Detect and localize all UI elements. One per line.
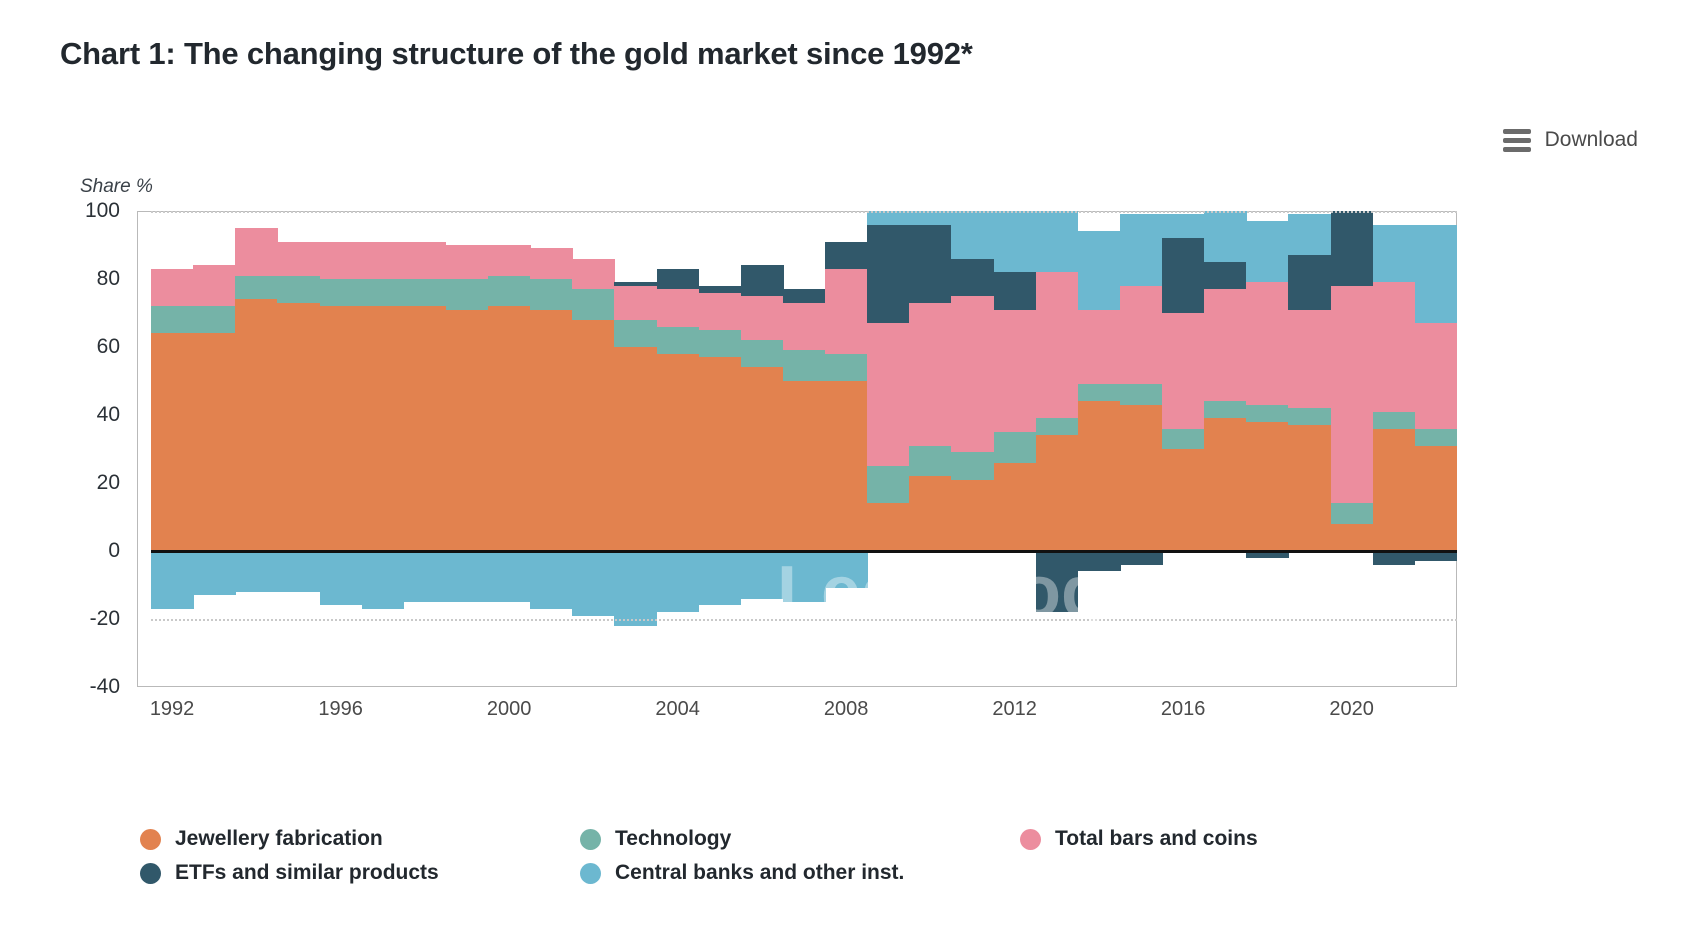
legend-label: Technology <box>615 827 731 851</box>
bar-segment <box>951 259 994 296</box>
bar-segment <box>825 242 868 269</box>
x-tick-label: 1992 <box>150 698 195 721</box>
bar-segment <box>1331 286 1374 504</box>
legend-item-jewellery[interactable]: Jewellery fabrication <box>140 822 570 856</box>
bar-segment <box>699 551 742 605</box>
bar-column[interactable] <box>909 211 952 687</box>
bar-segment <box>1204 289 1247 401</box>
x-axis-labels: 19921996200020042008201220162020 <box>137 698 1457 738</box>
bar-segment <box>1036 211 1079 272</box>
legend-item-bars-and-coins[interactable]: Total bars and coins <box>1020 822 1450 856</box>
bar-segment <box>783 350 826 381</box>
bar-segment <box>151 269 194 306</box>
bar-segment <box>151 551 194 609</box>
bar-segment <box>446 245 489 279</box>
legend-swatch-icon <box>140 863 161 884</box>
bar-column[interactable] <box>404 211 447 687</box>
bar-segment <box>151 333 194 551</box>
x-tick-label: 2004 <box>655 698 700 721</box>
bar-segment <box>1162 429 1205 449</box>
legend-label: ETFs and similar products <box>175 861 439 885</box>
bar-segment <box>193 333 236 551</box>
bar-segment <box>783 289 826 303</box>
bar-segment <box>1415 323 1457 428</box>
bar-segment <box>277 276 320 303</box>
bar-segment <box>1078 310 1121 385</box>
bar-segment <box>151 306 194 333</box>
bar-segment <box>1078 401 1121 551</box>
bar-segment <box>1036 551 1079 612</box>
x-tick-label: 2000 <box>487 698 532 721</box>
bar-segment <box>446 551 489 602</box>
bar-segment <box>277 303 320 551</box>
gridline <box>151 211 1457 213</box>
bar-segment <box>1120 551 1163 565</box>
bar-column[interactable] <box>193 211 236 687</box>
y-tick-label: 60 <box>10 335 120 359</box>
bar-column[interactable] <box>783 211 826 687</box>
bar-segment <box>446 279 489 310</box>
legend-label: Jewellery fabrication <box>175 827 383 851</box>
bar-segment <box>193 551 236 595</box>
bar-segment <box>446 310 489 551</box>
bar-column[interactable] <box>994 211 1037 687</box>
plot-inner <box>151 211 1457 687</box>
y-tick-label: 40 <box>10 403 120 427</box>
bar-column[interactable] <box>1288 211 1331 687</box>
y-axis-labels: 100806040200-20-40 <box>0 211 120 687</box>
bar-segment <box>699 293 742 330</box>
bar-segment <box>404 306 447 551</box>
bar-segment <box>530 551 573 609</box>
bar-segment <box>362 551 405 609</box>
bar-segment <box>572 289 615 320</box>
bar-column[interactable] <box>320 211 363 687</box>
bar-segment <box>614 286 657 320</box>
bar-column[interactable] <box>741 211 784 687</box>
bar-segment <box>530 248 573 279</box>
bar-segment <box>1120 384 1163 404</box>
bar-segment <box>277 242 320 276</box>
y-axis-caption: Share % <box>80 176 153 198</box>
bar-segment <box>825 551 868 588</box>
bar-segment <box>1162 214 1205 238</box>
bar-segment <box>530 310 573 551</box>
bar-segment <box>320 279 363 306</box>
bar-column[interactable] <box>825 211 868 687</box>
bar-segment <box>657 551 700 612</box>
bar-column[interactable] <box>1078 211 1121 687</box>
bar-column[interactable] <box>1162 211 1205 687</box>
bar-column[interactable] <box>1204 211 1247 687</box>
bar-column[interactable] <box>1415 211 1457 687</box>
zero-baseline <box>151 550 1457 553</box>
bar-segment <box>994 463 1037 551</box>
bar-segment <box>1036 418 1079 435</box>
bar-segment <box>741 265 784 296</box>
bar-segment <box>994 272 1037 309</box>
bar-segment <box>909 303 952 446</box>
bar-segment <box>1246 282 1289 404</box>
bar-segment <box>1120 405 1163 551</box>
y-tick-label: -40 <box>10 675 120 699</box>
bar-segment <box>741 296 784 340</box>
bar-segment <box>1078 231 1121 309</box>
gridline <box>151 619 1457 621</box>
bar-column[interactable] <box>530 211 573 687</box>
legend-swatch-icon <box>580 829 601 850</box>
y-tick-label: 80 <box>10 267 120 291</box>
bar-segment <box>657 269 700 289</box>
x-tick-label: 2016 <box>1161 698 1206 721</box>
bar-segment <box>572 259 615 290</box>
legend-item-etfs[interactable]: ETFs and similar products <box>140 856 570 890</box>
bar-column[interactable] <box>867 211 910 687</box>
bar-column[interactable] <box>614 211 657 687</box>
bar-segment <box>1373 551 1416 565</box>
bar-segment <box>1246 405 1289 422</box>
y-tick-label: 20 <box>10 471 120 495</box>
page-title: Chart 1: The changing structure of the g… <box>60 36 973 72</box>
bar-segment <box>994 211 1037 272</box>
bar-segment <box>530 279 573 310</box>
bar-column[interactable] <box>362 211 405 687</box>
bar-segment <box>783 551 826 602</box>
bar-column[interactable] <box>446 211 489 687</box>
bar-segment <box>909 225 952 303</box>
bar-segment <box>320 242 363 279</box>
y-tick-label: -20 <box>10 607 120 631</box>
bar-segment <box>867 323 910 466</box>
bar-segment <box>362 306 405 551</box>
x-tick-label: 2008 <box>824 698 869 721</box>
bar-segment <box>572 320 615 551</box>
bar-segment <box>825 354 868 381</box>
bar-column[interactable] <box>277 211 320 687</box>
bar-segment <box>1373 225 1416 283</box>
bar-segment <box>193 265 236 306</box>
bar-column[interactable] <box>1246 211 1289 687</box>
bar-segment <box>488 551 531 602</box>
legend-label: Central banks and other inst. <box>615 861 904 885</box>
bar-segment <box>1204 401 1247 418</box>
hamburger-menu-icon <box>1503 129 1531 152</box>
x-tick-label: 2012 <box>992 698 1037 721</box>
y-tick-label: 0 <box>10 539 120 563</box>
bar-column[interactable] <box>488 211 531 687</box>
legend-swatch-icon <box>580 863 601 884</box>
chart-plot-area <box>137 211 1457 687</box>
stacked-bars <box>151 211 1457 687</box>
legend-label: Total bars and coins <box>1055 827 1258 851</box>
bar-segment <box>741 340 784 367</box>
bar-segment <box>1288 255 1331 309</box>
bar-segment <box>277 551 320 592</box>
bar-segment <box>614 347 657 551</box>
bar-segment <box>1204 262 1247 289</box>
bar-segment <box>909 476 952 551</box>
bar-segment <box>1288 214 1331 255</box>
bar-segment <box>1373 282 1416 411</box>
bar-segment <box>867 211 910 225</box>
bar-segment <box>867 225 910 324</box>
bar-segment <box>994 310 1037 432</box>
bar-segment <box>1162 238 1205 313</box>
legend-swatch-icon <box>140 829 161 850</box>
bar-segment <box>783 381 826 551</box>
bar-segment <box>867 466 910 503</box>
bar-segment <box>741 551 784 599</box>
bar-segment <box>783 303 826 351</box>
bar-segment <box>1078 551 1121 571</box>
bar-segment <box>235 299 278 551</box>
legend-item-technology[interactable]: Technology <box>580 822 1010 856</box>
bar-segment <box>1246 422 1289 551</box>
bar-segment <box>488 276 531 307</box>
bar-column[interactable] <box>699 211 742 687</box>
bar-segment <box>235 551 278 592</box>
bar-segment <box>741 367 784 551</box>
bar-segment <box>1288 310 1331 409</box>
bar-segment <box>320 551 363 605</box>
bar-segment <box>1036 435 1079 551</box>
bar-segment <box>951 480 994 551</box>
chart-legend: Jewellery fabricationTechnologyTotal bar… <box>140 822 1480 890</box>
bar-segment <box>1288 408 1331 425</box>
bar-column[interactable] <box>1036 211 1079 687</box>
bar-segment <box>1415 225 1457 324</box>
bar-segment <box>1331 211 1374 286</box>
bar-segment <box>1288 425 1331 551</box>
bar-column[interactable] <box>1331 211 1374 687</box>
bar-segment <box>404 279 447 306</box>
y-tick-label: 100 <box>10 199 120 223</box>
bar-segment <box>404 551 447 602</box>
bar-column[interactable] <box>1373 211 1416 687</box>
bar-segment <box>1162 313 1205 429</box>
bar-segment <box>1204 211 1247 262</box>
bar-segment <box>1373 429 1416 551</box>
bar-segment <box>235 276 278 300</box>
bar-column[interactable] <box>235 211 278 687</box>
bar-segment <box>867 503 910 551</box>
bar-segment <box>1162 449 1205 551</box>
bar-segment <box>1246 221 1289 282</box>
download-label: Download <box>1545 128 1638 152</box>
bar-column[interactable] <box>657 211 700 687</box>
bar-segment <box>614 282 657 285</box>
bar-segment <box>614 320 657 347</box>
bar-segment <box>909 211 952 225</box>
bar-column[interactable] <box>951 211 994 687</box>
bar-column[interactable] <box>151 211 194 687</box>
bar-segment <box>1331 524 1374 551</box>
bar-segment <box>909 446 952 477</box>
bar-segment <box>362 279 405 306</box>
bar-segment <box>1373 412 1416 429</box>
bar-segment <box>1120 214 1163 285</box>
bar-segment <box>614 551 657 626</box>
bar-segment <box>951 296 994 452</box>
bar-segment <box>193 306 236 333</box>
bar-segment <box>699 330 742 357</box>
bar-segment <box>404 242 447 279</box>
bar-segment <box>320 306 363 551</box>
bar-segment <box>488 245 531 276</box>
bar-segment <box>1204 418 1247 551</box>
bar-segment <box>994 432 1037 463</box>
legend-swatch-icon <box>1020 829 1041 850</box>
bar-segment <box>235 228 278 276</box>
legend-item-central-banks[interactable]: Central banks and other inst. <box>580 856 1010 890</box>
bar-column[interactable] <box>572 211 615 687</box>
x-tick-label: 1996 <box>318 698 363 721</box>
bar-segment <box>699 357 742 551</box>
bar-segment <box>362 242 405 279</box>
bar-segment <box>825 269 868 354</box>
bar-segment <box>825 381 868 551</box>
bar-segment <box>699 286 742 293</box>
bar-column[interactable] <box>1120 211 1163 687</box>
bar-segment <box>1415 446 1457 551</box>
bar-segment <box>657 289 700 326</box>
download-button[interactable]: Download <box>1503 128 1638 152</box>
bar-segment <box>951 211 994 259</box>
bar-segment <box>1036 272 1079 418</box>
bar-segment <box>572 551 615 616</box>
bar-segment <box>657 327 700 354</box>
bar-segment <box>951 452 994 479</box>
bar-segment <box>1120 286 1163 385</box>
bar-segment <box>1078 384 1121 401</box>
bar-segment <box>657 354 700 551</box>
bar-segment <box>1415 429 1457 446</box>
x-tick-label: 2020 <box>1329 698 1374 721</box>
bar-segment <box>1331 503 1374 523</box>
bar-segment <box>488 306 531 551</box>
